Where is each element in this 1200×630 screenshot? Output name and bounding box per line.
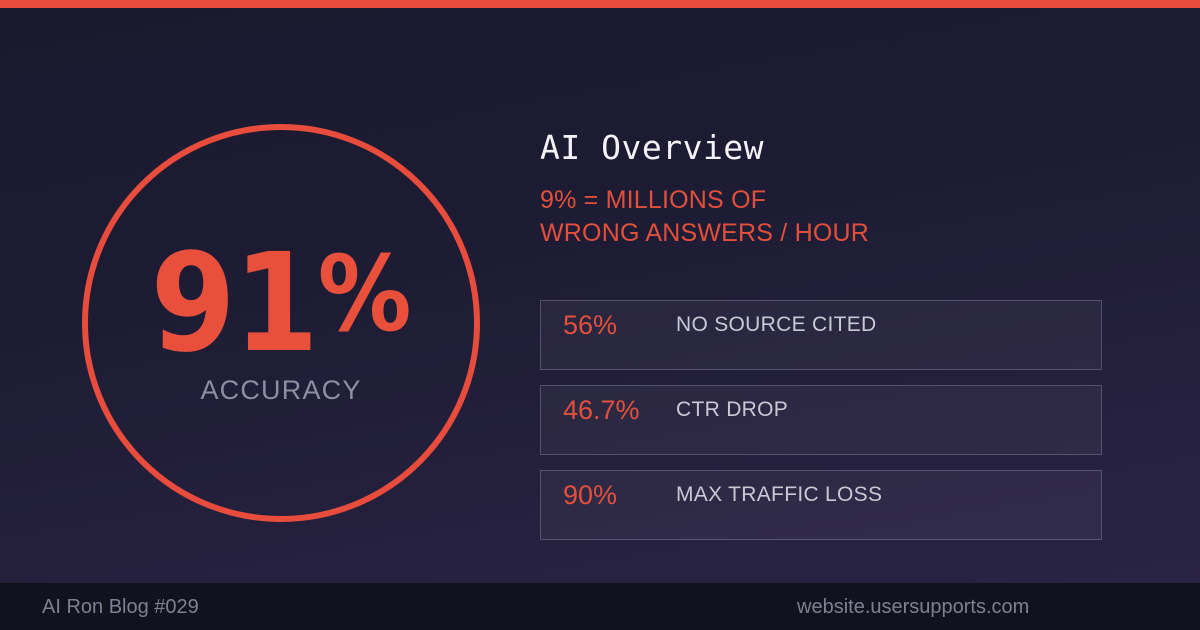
stats-list: 56% NO SOURCE CITED 46.7% CTR DROP 90% M… xyxy=(540,300,1102,540)
gauge-value: 91 % xyxy=(150,246,411,363)
stat-row: 46.7% CTR DROP xyxy=(540,385,1102,455)
stat-value: 90% xyxy=(541,482,676,509)
panel-header: AI Overview 9% = MILLIONS OF WRONG ANSWE… xyxy=(540,128,1102,251)
stat-value: 46.7% xyxy=(541,397,676,424)
gauge-content: 91 % ACCURACY xyxy=(82,124,480,522)
gauge-caption: ACCURACY xyxy=(200,375,361,406)
footer-blog-label: AI Ron Blog #029 xyxy=(42,596,199,619)
gauge-percent-symbol: % xyxy=(318,250,412,339)
stat-label: NO SOURCE CITED xyxy=(676,312,877,338)
panel-subtitle-line2: WRONG ANSWERS / HOUR xyxy=(540,219,869,247)
panel-subtitle: 9% = MILLIONS OF WRONG ANSWERS / HOUR xyxy=(540,184,1102,251)
stat-row: 56% NO SOURCE CITED xyxy=(540,300,1102,370)
accuracy-gauge: 91 % ACCURACY xyxy=(82,124,480,522)
panel-subtitle-line1: 9% = MILLIONS OF xyxy=(540,186,766,214)
top-accent-bar xyxy=(0,0,1200,8)
gauge-number: 91 xyxy=(150,246,316,363)
stat-row: 90% MAX TRAFFIC LOSS xyxy=(540,470,1102,540)
footer-website-label: website.usersupports.com xyxy=(797,596,1029,619)
stat-value: 56% xyxy=(541,312,676,339)
page-title: AI Overview xyxy=(540,128,1102,168)
stat-label: CTR DROP xyxy=(676,397,788,423)
footer-bar: AI Ron Blog #029 website.usersupports.co… xyxy=(0,583,1200,630)
stat-label: MAX TRAFFIC LOSS xyxy=(676,482,882,508)
infographic-card: 91 % ACCURACY AI Overview 9% = MILLIONS … xyxy=(0,0,1200,630)
